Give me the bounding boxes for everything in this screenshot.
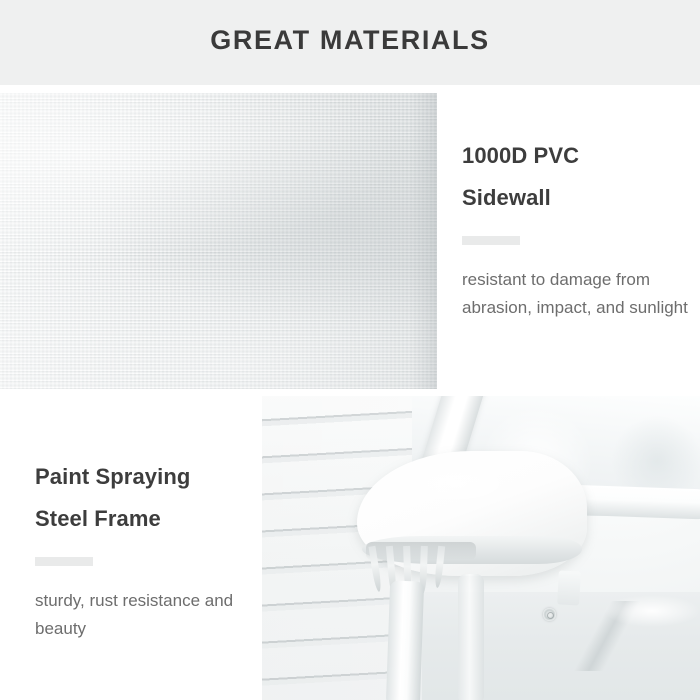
pvc-sidewall-divider — [462, 236, 520, 245]
steel-frame-heading-line2: Steel Frame — [35, 498, 263, 540]
steel-frame-divider — [35, 557, 93, 566]
pvc-sidewall-text-panel: 1000D PVC Sidewall resistant to damage f… — [462, 135, 688, 322]
steel-frame-body-text: sturdy, rust resistance and beauty — [35, 587, 263, 643]
page-title: GREAT MATERIALS — [0, 25, 700, 56]
pvc-fabric-image — [0, 93, 437, 389]
rail-end-notch — [557, 570, 581, 605]
pool-wall-highlight — [592, 591, 700, 631]
feature-row-pvc-sidewall: 1000D PVC Sidewall resistant to damage f… — [0, 93, 700, 389]
steel-frame-text-panel: Paint Spraying Steel Frame sturdy, rust … — [35, 456, 263, 643]
frame-leg-pole-front — [386, 580, 424, 700]
header-band: GREAT MATERIALS — [0, 0, 700, 85]
joint-fin — [368, 546, 382, 593]
product-feature-page: GREAT MATERIALS 1000D PVC Sidewall resis… — [0, 0, 700, 700]
pvc-sidewall-body-text: resistant to damage from abrasion, impac… — [462, 266, 688, 322]
pvc-sidewall-heading-line1: 1000D PVC — [462, 135, 688, 177]
frame-screw-icon — [543, 608, 556, 621]
steel-frame-heading-line1: Paint Spraying — [35, 456, 263, 498]
steel-frame-pool-image — [262, 396, 700, 700]
frame-leg-pole-back — [458, 574, 484, 700]
pvc-sidewall-heading-line2: Sidewall — [462, 177, 688, 219]
fabric-right-edge-shadow — [411, 93, 437, 389]
joint-fin — [434, 546, 445, 589]
fabric-shading-layer — [0, 93, 437, 389]
feature-row-steel-frame: Paint Spraying Steel Frame sturdy, rust … — [0, 396, 700, 700]
frame-joint-highlight — [380, 456, 530, 511]
